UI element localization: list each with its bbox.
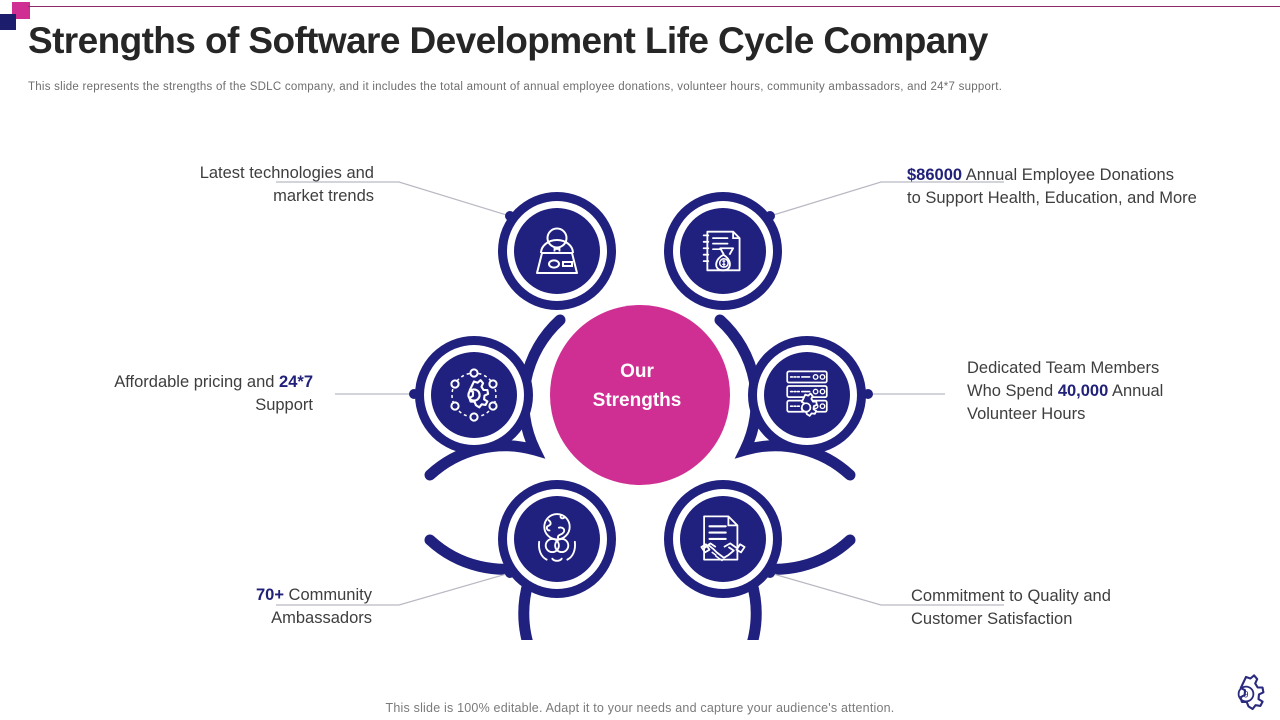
callout-highlight: 40,000 xyxy=(1058,382,1108,400)
callout-employee-donations: $86000 Annual Employee Donations to Supp… xyxy=(907,164,1253,210)
callout-volunteer-hours: Dedicated Team Members Who Spend 40,000 … xyxy=(967,357,1227,426)
callout-highlight: 70+ xyxy=(256,586,284,604)
callout-text-post: Annual xyxy=(1108,382,1163,400)
callout-text-post: Annual Employee Donations xyxy=(962,166,1174,184)
callout-line-2: market trends xyxy=(110,185,374,208)
callout-line-1: 70+ Community xyxy=(130,584,372,607)
node-volunteer-hours[interactable] xyxy=(748,336,866,454)
hub-center xyxy=(537,292,743,498)
node-employee-donations[interactable] xyxy=(664,192,782,310)
callout-line-1: Latest technologies and xyxy=(110,162,374,185)
callout-line-2: Ambassadors xyxy=(130,607,372,630)
callout-affordable-pricing: Affordable pricing and 24*7 Support xyxy=(40,371,313,417)
corner-accent-navy xyxy=(0,14,16,30)
slide-root: Strengths of Software Development Life C… xyxy=(0,0,1280,720)
callout-text-post: Community xyxy=(284,586,372,604)
callout-line-2: Support xyxy=(40,394,313,417)
callout-line-1: Commitment to Quality and xyxy=(911,585,1171,608)
callout-line-2: to Support Health, Education, and More xyxy=(907,187,1253,210)
callout-text-pre: Affordable pricing and xyxy=(114,373,279,391)
callout-line-3: Volunteer Hours xyxy=(967,403,1227,426)
node-commitment-quality[interactable] xyxy=(664,480,782,598)
callout-latest-technologies: Latest technologies and market trends xyxy=(110,162,374,208)
callout-community-ambassadors: 70+ Community Ambassadors xyxy=(130,584,372,630)
page-subtitle: This slide represents the strengths of t… xyxy=(28,81,1128,93)
node-latest-technologies[interactable] xyxy=(498,192,616,310)
callout-commitment-quality: Commitment to Quality and Customer Satis… xyxy=(911,585,1171,631)
callout-text-pre: Who Spend xyxy=(967,382,1058,400)
logo-number: 9 xyxy=(1243,690,1248,700)
page-title: Strengths of Software Development Life C… xyxy=(28,20,1228,62)
node-affordable-pricing[interactable] xyxy=(415,336,533,454)
callout-highlight: 24*7 xyxy=(279,373,313,391)
header-rule xyxy=(28,6,1280,7)
callout-line-1: $86000 Annual Employee Donations xyxy=(907,164,1253,187)
callout-line-2: Who Spend 40,000 Annual xyxy=(967,380,1227,403)
footer-note: This slide is 100% editable. Adapt it to… xyxy=(0,701,1280,715)
gear-logo-icon: 9 xyxy=(1224,674,1270,716)
callout-highlight: $86000 xyxy=(907,166,962,184)
callout-line-2: Customer Satisfaction xyxy=(911,608,1171,631)
callout-line-1: Dedicated Team Members xyxy=(967,357,1227,380)
node-community-ambassadors[interactable] xyxy=(498,480,616,598)
callout-line-1: Affordable pricing and 24*7 xyxy=(40,371,313,394)
